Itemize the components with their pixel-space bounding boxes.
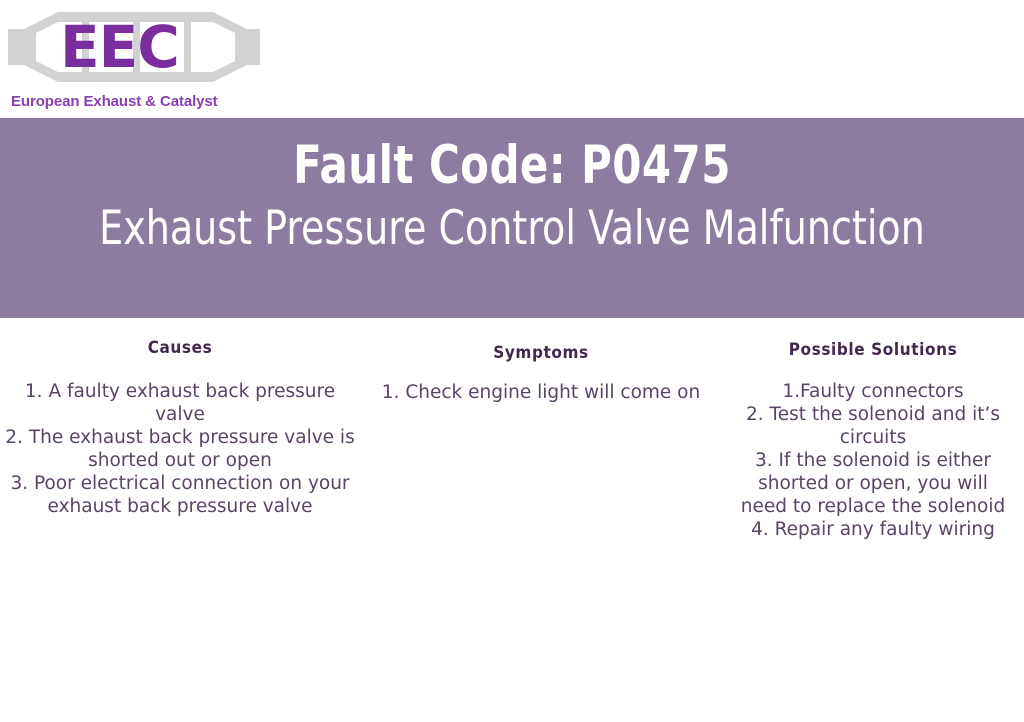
list-item: need to replace the solenoid	[726, 495, 1020, 518]
list-item: shorted out or open	[4, 449, 356, 472]
info-columns: Causes 1. A faulty exhaust back pressure…	[0, 318, 1024, 722]
list-item: circuits	[726, 426, 1020, 449]
column-heading-causes: Causes	[0, 338, 360, 358]
column-symptoms: Symptoms 1. Check engine light will come…	[360, 318, 722, 404]
list-item: 1. Check engine light will come on	[370, 381, 712, 404]
list-item: exhaust back pressure valve	[4, 495, 356, 518]
list-item: 2. The exhaust back pressure valve is	[4, 426, 356, 449]
list-item: 3. If the solenoid is either	[726, 449, 1020, 472]
page-title: Fault Code: P0475	[61, 135, 962, 197]
list-item: 1.Faulty connectors	[726, 380, 1020, 403]
list-item: 4. Repair any faulty wiring	[726, 518, 1020, 541]
logo-tagline: European Exhaust & Catalyst	[11, 93, 218, 111]
list-item: shorted or open, you will	[726, 472, 1020, 495]
fault-code-header-band: Fault Code: P0475 Exhaust Pressure Contr…	[0, 118, 1024, 318]
column-heading-symptoms: Symptoms	[360, 343, 722, 363]
causes-list: 1. A faulty exhaust back pressure valve …	[0, 380, 360, 518]
column-heading-possible-solutions: Possible Solutions	[722, 340, 1024, 360]
symptoms-list: 1. Check engine light will come on	[360, 381, 722, 404]
list-item: 1. A faulty exhaust back pressure valve	[4, 380, 356, 426]
list-item: 2. Test the solenoid and it’s	[726, 403, 1020, 426]
logo-letters: EEC	[60, 12, 190, 82]
column-possible-solutions: Possible Solutions 1.Faulty connectors 2…	[722, 318, 1024, 541]
solutions-list: 1.Faulty connectors 2. Test the solenoid…	[722, 380, 1024, 541]
page-subtitle: Exhaust Pressure Control Valve Malfuncti…	[87, 201, 937, 256]
brand-logo: EEC European Exhaust & Catalyst	[0, 0, 270, 118]
list-item: 3. Poor electrical connection on your	[4, 472, 356, 495]
column-causes: Causes 1. A faulty exhaust back pressure…	[0, 318, 360, 518]
